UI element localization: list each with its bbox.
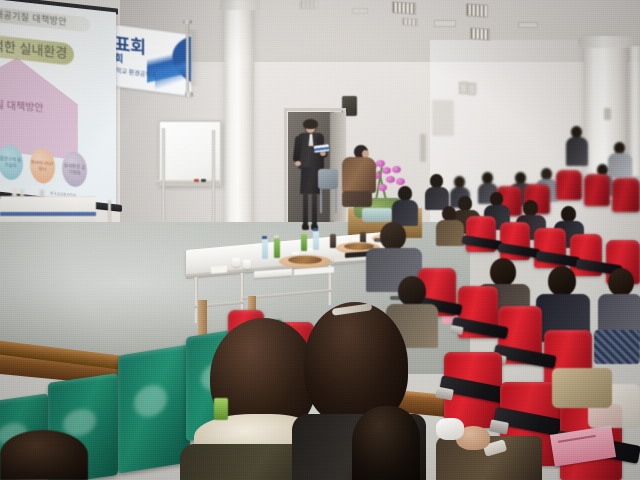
ceiling-light-icon bbox=[392, 1, 416, 15]
dark-bottle bbox=[330, 234, 336, 248]
ceiling-vent-icon bbox=[352, 8, 368, 14]
cabinet-item bbox=[12, 188, 17, 197]
presenter-hand bbox=[295, 161, 301, 166]
chair-leg bbox=[320, 189, 322, 213]
cabinet-item bbox=[40, 190, 44, 197]
handbag bbox=[552, 368, 612, 408]
ceiling-vent-icon bbox=[518, 22, 538, 28]
column-center bbox=[224, 4, 254, 234]
attendee-coat bbox=[342, 157, 376, 193]
wall-plate bbox=[459, 82, 468, 94]
slide-header-text: 실내공기질 대책방안 bbox=[0, 5, 90, 33]
slide-oval-label: BAKE-OUT실시 bbox=[30, 159, 55, 174]
foreground-attendee-c bbox=[0, 430, 88, 480]
seat-back bbox=[612, 178, 640, 212]
screen-surface: 실내공기질 대책방안 쾌적한 실내환경 실내공기질 대책방안 환기 흡연구역 환… bbox=[0, 0, 116, 206]
presenter-handout bbox=[314, 144, 330, 153]
slide-subtitle-pill: 쾌적한 실내환경 bbox=[0, 32, 74, 66]
water-bottle bbox=[313, 231, 319, 250]
cabinet-accent-stripe bbox=[0, 212, 96, 216]
slide-oval-label: 실내환경 공기정화 bbox=[62, 162, 87, 177]
paper-cup bbox=[232, 258, 240, 267]
slide-oval-label: 흡연구역 환기설치 bbox=[0, 155, 23, 170]
audience-member bbox=[425, 174, 449, 210]
presenter-shoe bbox=[302, 224, 309, 230]
water-bottle bbox=[262, 239, 268, 259]
banner-swoosh-graphic bbox=[155, 43, 189, 97]
slide-header-bar: 실내공기질 대책방안 bbox=[0, 5, 90, 33]
column-capital bbox=[220, 0, 260, 10]
bottle-cap-icon bbox=[313, 228, 318, 231]
drink-can bbox=[214, 398, 228, 420]
banner-wall-shadow bbox=[190, 29, 200, 86]
presenter-hair bbox=[303, 119, 318, 129]
cabinet-item bbox=[20, 189, 24, 197]
ceiling-light-icon bbox=[402, 17, 418, 26]
wall-panel bbox=[604, 108, 611, 120]
table-leg bbox=[240, 273, 244, 315]
slide-oval-4: 실내환경 공기정화 bbox=[62, 150, 87, 188]
chair-leg bbox=[335, 189, 337, 213]
presenter-leg bbox=[312, 193, 317, 226]
orchid-bloom bbox=[386, 176, 395, 183]
marker-icon bbox=[201, 179, 206, 182]
banner-rod-cap bbox=[185, 92, 193, 97]
presenter-leg bbox=[303, 193, 308, 226]
attendee-hair bbox=[352, 406, 420, 480]
orchid-bloom bbox=[396, 178, 405, 185]
wall-panel bbox=[420, 134, 426, 162]
attendee-hair bbox=[0, 430, 88, 480]
food-items bbox=[288, 256, 322, 264]
slide-subtitle-text: 쾌적한 실내환경 bbox=[0, 32, 74, 66]
green-bottle bbox=[301, 234, 307, 251]
wall-plate bbox=[468, 83, 476, 95]
marker-icon bbox=[194, 179, 199, 182]
green-seat bbox=[118, 344, 190, 473]
whiteboard-leg bbox=[162, 128, 165, 224]
banner-rod-cap bbox=[183, 20, 192, 24]
eyeglasses-icon bbox=[374, 238, 388, 242]
seat-back bbox=[584, 174, 610, 206]
patterned-bag bbox=[594, 330, 640, 364]
seat-back bbox=[556, 170, 582, 200]
ceiling-vent-icon bbox=[434, 20, 456, 27]
whiteboard-tray bbox=[156, 180, 220, 184]
column-capital bbox=[578, 36, 634, 48]
whiteboard-leg bbox=[212, 130, 215, 224]
bottle-cap-icon bbox=[274, 235, 279, 238]
green-bottle bbox=[274, 238, 280, 258]
auditorium-photo: 발표회 표회 구대학교 환경공학과 실내공기질 대책방안 쾌적한 실내환경 실내… bbox=[0, 0, 640, 480]
chair-back bbox=[318, 169, 338, 189]
orchid-bloom bbox=[382, 167, 391, 174]
audience-member bbox=[566, 126, 588, 166]
napkin bbox=[211, 265, 227, 273]
folding-chair bbox=[318, 169, 340, 213]
attendee-legs bbox=[342, 191, 372, 207]
audience-member bbox=[392, 186, 418, 226]
eyeglasses-icon bbox=[390, 296, 406, 300]
orchid-bloom bbox=[392, 166, 401, 173]
banner-rod bbox=[186, 22, 189, 94]
ceiling-light-icon bbox=[300, 0, 318, 9]
ceiling-light-icon bbox=[466, 3, 488, 18]
foreground-attendee-e bbox=[352, 380, 448, 480]
paper-cup bbox=[243, 260, 251, 269]
ceiling-light-icon bbox=[470, 27, 490, 40]
seated-attendee-brown-coat bbox=[340, 145, 382, 225]
bottle-cap-icon bbox=[262, 236, 267, 239]
wall-panel bbox=[432, 100, 454, 136]
audience-member bbox=[436, 206, 464, 246]
